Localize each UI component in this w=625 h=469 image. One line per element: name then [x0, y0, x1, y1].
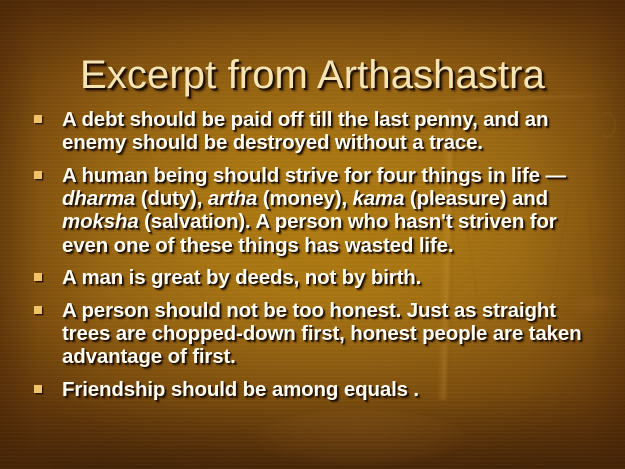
bullet-item-4: A person should not be too honest. Just … — [30, 299, 597, 369]
sanskrit-term: artha — [208, 187, 257, 210]
sanskrit-term: moksha — [62, 210, 139, 233]
bullet-text-1: A debt should be paid off till the last … — [62, 108, 548, 154]
bullet-text-4: A person should not be too honest. Just … — [62, 299, 581, 369]
bullet-item-3: A man is great by deeds, not by birth. — [30, 266, 597, 289]
slide-title: Excerpt from Arthashastra — [0, 53, 625, 98]
bullet-text-3: A man is great by deeds, not by birth. — [62, 266, 421, 289]
square-bullet-icon — [34, 273, 42, 281]
square-bullet-icon — [34, 385, 42, 393]
square-bullet-icon — [34, 115, 42, 123]
slide-content: Excerpt from Arthashastra A debt should … — [0, 0, 625, 469]
bullet-text-5: Friendship should be among equals . — [62, 378, 419, 401]
bullet-text-2: A human being should strive for four thi… — [62, 164, 566, 257]
bullet-item-2: A human being should strive for four thi… — [30, 164, 597, 257]
sanskrit-term: kama — [353, 187, 405, 210]
presentation-slide: Excerpt from Arthashastra A debt should … — [0, 0, 625, 469]
bullet-item-1: A debt should be paid off till the last … — [30, 108, 597, 155]
square-bullet-icon — [34, 171, 42, 179]
bullet-list: A debt should be paid off till the last … — [30, 108, 597, 410]
bullet-item-5: Friendship should be among equals . — [30, 378, 597, 401]
square-bullet-icon — [34, 306, 42, 314]
sanskrit-term: dharma — [62, 187, 135, 210]
